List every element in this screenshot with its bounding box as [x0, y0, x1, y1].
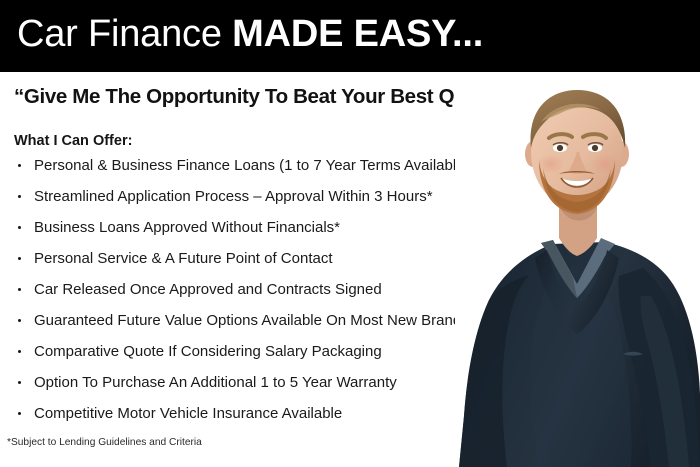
page-title: Car Finance MADE EASY...: [17, 11, 483, 57]
list-item: Competitive Motor Vehicle Insurance Avai…: [14, 406, 514, 437]
bullet-dot-icon: [18, 257, 21, 260]
list-item: Option To Purchase An Additional 1 to 5 …: [14, 375, 514, 406]
portrait-illustration: [455, 72, 700, 467]
bullet-dot-icon: [18, 164, 21, 167]
list-item-label: Guaranteed Future Value Options Availabl…: [34, 312, 469, 329]
list-item: Car Released Once Approved and Contracts…: [14, 282, 514, 313]
list-item: Guaranteed Future Value Options Availabl…: [14, 313, 514, 344]
tagline-quote: “Give Me The Opportunity To Beat Your Be…: [14, 85, 506, 109]
offer-list: Personal & Business Finance Loans (1 to …: [14, 158, 514, 437]
list-item-label: Personal & Business Finance Loans (1 to …: [34, 157, 470, 174]
car-finance-poster: Car Finance MADE EASY... “Give Me The Op…: [0, 0, 700, 467]
list-item-label: Competitive Motor Vehicle Insurance Avai…: [34, 405, 342, 422]
list-item: Streamlined Application Process – Approv…: [14, 189, 514, 220]
portrait-photo: [455, 72, 700, 467]
footnote-disclaimer: *Subject to Lending Guidelines and Crite…: [7, 437, 202, 448]
bullet-dot-icon: [18, 288, 21, 291]
list-item-label: Business Loans Approved Without Financia…: [34, 219, 340, 236]
eye-right-iris: [592, 145, 598, 151]
page-title-bold: MADE EASY...: [232, 13, 483, 55]
page-title-light: Car Finance: [17, 13, 232, 55]
list-item-label: Comparative Quote If Considering Salary …: [34, 343, 382, 360]
list-item: Personal Service & A Future Point of Con…: [14, 251, 514, 282]
list-item: Personal & Business Finance Loans (1 to …: [14, 158, 514, 189]
list-item-label: Option To Purchase An Additional 1 to 5 …: [34, 374, 397, 391]
bullet-dot-icon: [18, 381, 21, 384]
bullet-dot-icon: [18, 319, 21, 322]
header-banner: Car Finance MADE EASY...: [0, 0, 700, 72]
bullet-dot-icon: [18, 412, 21, 415]
eye-left-iris: [557, 145, 563, 151]
offer-list-heading: What I Can Offer:: [14, 133, 132, 149]
bullet-dot-icon: [18, 195, 21, 198]
bullet-dot-icon: [18, 350, 21, 353]
list-item-label: Streamlined Application Process – Approv…: [34, 188, 433, 205]
list-item: Business Loans Approved Without Financia…: [14, 220, 514, 251]
list-item: Comparative Quote If Considering Salary …: [14, 344, 514, 375]
list-item-label: Personal Service & A Future Point of Con…: [34, 250, 333, 267]
bullet-dot-icon: [18, 226, 21, 229]
list-item-label: Car Released Once Approved and Contracts…: [34, 281, 382, 298]
